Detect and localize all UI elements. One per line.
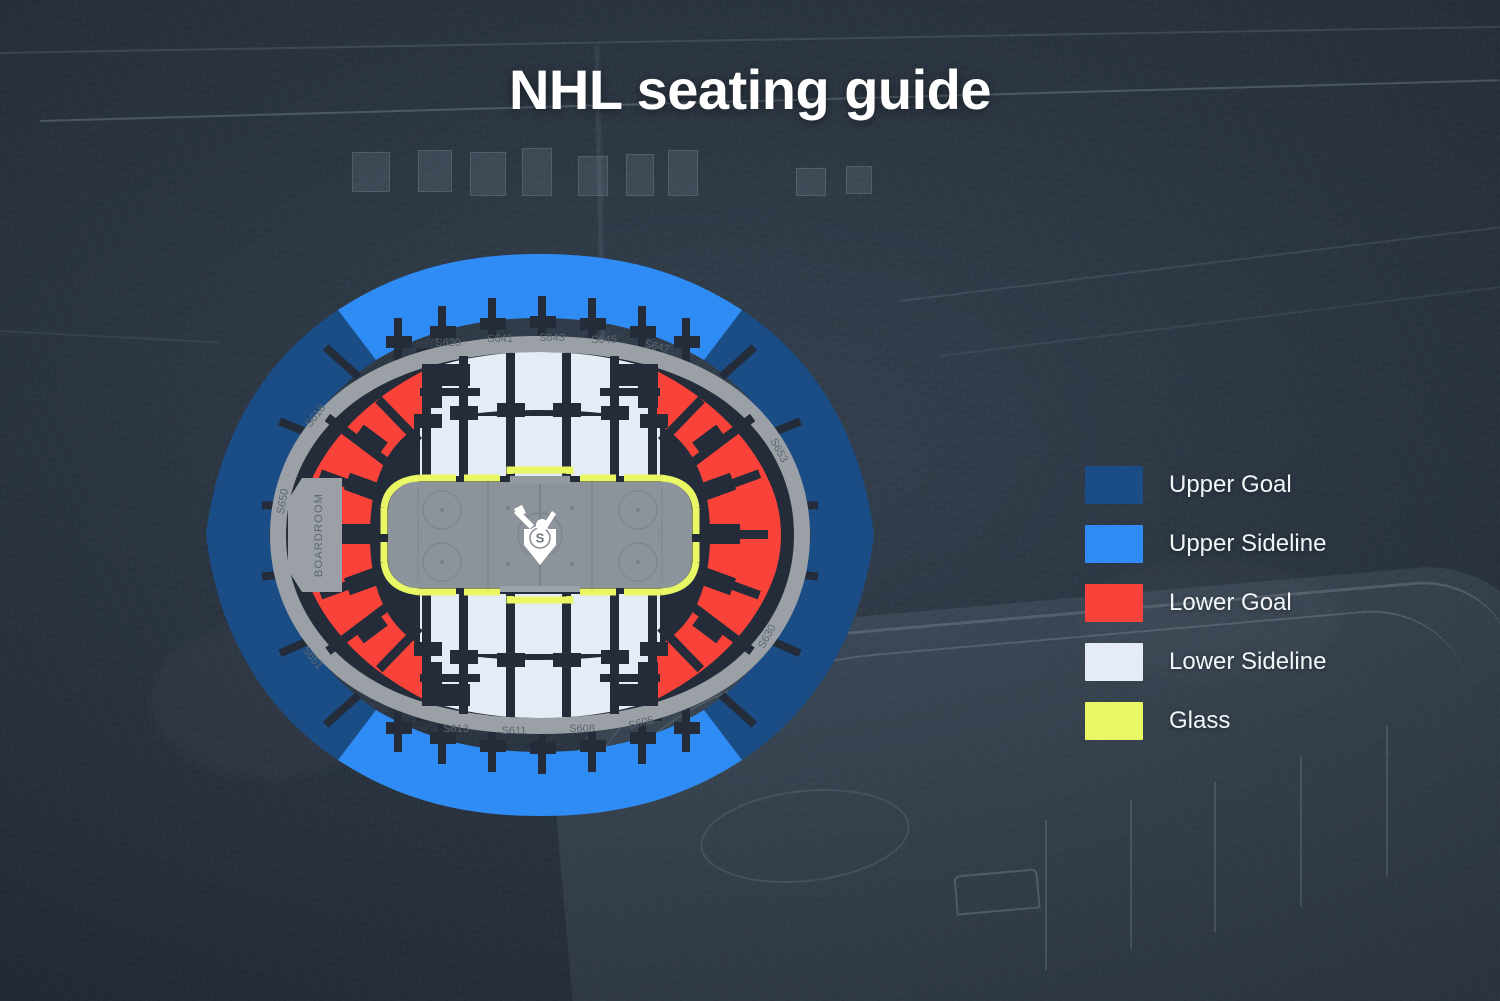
arena-banner xyxy=(522,148,552,196)
legend-swatch-upper-sideline xyxy=(1085,525,1143,563)
legend-swatch-glass xyxy=(1085,702,1143,740)
legend-swatch-lower-goal xyxy=(1085,584,1143,622)
legend-swatch-lower-sideline xyxy=(1085,643,1143,681)
section-label: S645 xyxy=(591,334,617,346)
page-title: NHL seating guide xyxy=(0,62,1500,118)
arena-banner xyxy=(352,152,390,192)
section-label: S613 xyxy=(443,723,469,735)
legend-item-upper-sideline[interactable]: Upper Sideline xyxy=(1085,514,1415,573)
seating-guide-page: NHL seating guide xyxy=(0,0,1500,1001)
arena-banner xyxy=(796,168,826,196)
arena-banner xyxy=(418,150,452,192)
glass-post xyxy=(1045,820,1047,970)
legend-item-lower-goal[interactable]: Lower Goal xyxy=(1085,573,1415,632)
legend-item-glass[interactable]: Glass xyxy=(1085,691,1415,750)
section-label: S611 xyxy=(502,725,527,737)
arena-banner xyxy=(470,152,506,196)
arena-banner xyxy=(668,150,698,196)
section-label: S608 xyxy=(569,723,595,735)
arena-seating-map[interactable]: BOARDROOM xyxy=(170,240,910,830)
glass-post xyxy=(1130,800,1132,950)
arena-banner xyxy=(626,154,654,196)
photo-goal-net xyxy=(953,868,1040,915)
boardroom-block[interactable]: BOARDROOM xyxy=(288,478,342,592)
glass-post xyxy=(1300,756,1302,906)
legend-label-upper-goal: Upper Goal xyxy=(1169,473,1292,497)
glass-post xyxy=(1214,782,1216,932)
logo-letter: S xyxy=(536,531,545,546)
legend-label-upper-sideline: Upper Sideline xyxy=(1169,532,1326,556)
section-label: S620 xyxy=(435,337,461,349)
legend-label-lower-sideline: Lower Sideline xyxy=(1169,650,1326,674)
legend-item-lower-sideline[interactable]: Lower Sideline xyxy=(1085,632,1415,691)
legend-label-glass: Glass xyxy=(1169,709,1230,733)
arena-banner xyxy=(578,156,608,196)
boardroom-label: BOARDROOM xyxy=(313,493,325,577)
seating-map-svg[interactable]: BOARDROOM xyxy=(170,240,910,830)
legend-label-lower-goal: Lower Goal xyxy=(1169,591,1292,615)
legend-swatch-upper-goal xyxy=(1085,466,1143,504)
legend-item-upper-goal[interactable]: Upper Goal xyxy=(1085,455,1415,514)
map-legend: Upper Goal Upper Sideline Lower Goal Low… xyxy=(1085,455,1415,750)
arena-banner xyxy=(846,166,872,194)
section-label: S643 xyxy=(539,332,565,344)
section-label: S641 xyxy=(487,333,513,345)
